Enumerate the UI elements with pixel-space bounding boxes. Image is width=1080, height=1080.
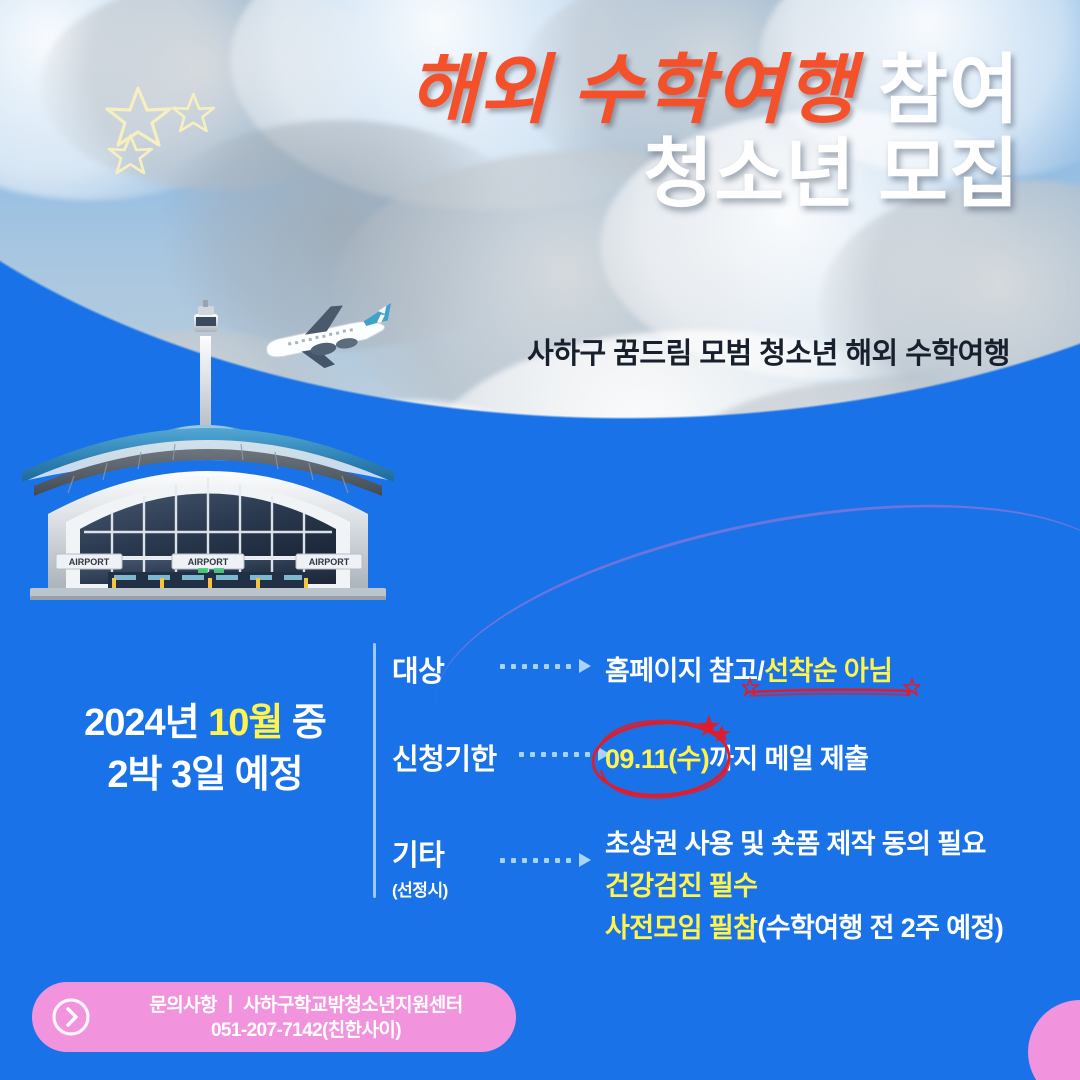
- poster-root: AIRPORT AIRPORT AIRPORT: [0, 0, 1080, 1080]
- schedule-line-2: 2박 3일 예정: [55, 749, 355, 801]
- red-underline-annotation: [742, 676, 920, 702]
- title-accent-text: 해외 수학여행: [408, 48, 856, 133]
- info-row-value: 초상권 사용 및 숏폼 제작 동의 필요: [605, 822, 986, 861]
- schedule-block: 2024년 10월 중 2박 3일 예정: [55, 697, 355, 802]
- svg-text:AIRPORT: AIRPORT: [69, 557, 110, 567]
- poster-title: 해외 수학여행 참여 청소년 모집: [0, 52, 1020, 215]
- chevron-right-circle-icon[interactable]: [51, 997, 91, 1037]
- info-row-label: 신청기한: [392, 736, 497, 778]
- dotted-arrow-icon: [500, 660, 591, 672]
- title-plain-text: 참여: [878, 48, 1020, 133]
- contact-footer-bar: 문의사항 ㅣ 사하구학교밖청소년지원센터 051-207-7142(친한사이): [32, 982, 516, 1052]
- contact-line-1: 문의사항 ㅣ 사하구학교밖청소년지원센터: [106, 993, 506, 1018]
- vertical-divider: [373, 643, 376, 898]
- info-row-label: 기타: [392, 832, 444, 874]
- star-icon: [904, 679, 920, 695]
- info-row-sublabel: (선정시): [392, 876, 448, 901]
- red-circle-annotation: [583, 713, 743, 805]
- schedule-suffix: 중: [282, 702, 326, 744]
- svg-text:AIRPORT: AIRPORT: [188, 557, 229, 567]
- poster-subtitle: 사하구 꿈드림 모범 청소년 해외 수학여행: [0, 330, 1010, 372]
- decorative-pink-circle: [1028, 1000, 1080, 1080]
- value-plain-before: 초상권 사용 및 숏폼 제작 동의 필요: [605, 829, 986, 859]
- value-plain-before: 홈페이지 참고/: [605, 656, 764, 686]
- schedule-prefix: 2024년: [84, 702, 208, 744]
- svg-text:AIRPORT: AIRPORT: [309, 557, 350, 567]
- contact-text: 문의사항 ㅣ 사하구학교밖청소년지원센터 051-207-7142(친한사이): [106, 993, 506, 1044]
- contact-line-2: 051-207-7142(친한사이): [106, 1018, 506, 1043]
- airport-sign: AIRPORT AIRPORT AIRPORT: [56, 554, 362, 569]
- value-highlight: 사전모임 필참: [605, 913, 757, 943]
- title-line-1: 해외 수학여행 참여: [0, 52, 1020, 130]
- info-row-value: 사전모임 필참(수학여행 전 2주 예정): [605, 906, 1003, 945]
- title-line-2: 청소년 모집: [0, 136, 1020, 214]
- value-plain-after: (수학여행 전 2주 예정): [757, 913, 1003, 943]
- schedule-line-1: 2024년 10월 중: [55, 697, 355, 749]
- schedule-month-highlight: 10월: [208, 702, 282, 744]
- dotted-arrow-icon: [500, 854, 591, 866]
- value-highlight: 건강검진 필수: [605, 871, 757, 901]
- info-row-value: 건강검진 필수: [605, 864, 757, 903]
- info-row-label: 대상: [392, 648, 444, 690]
